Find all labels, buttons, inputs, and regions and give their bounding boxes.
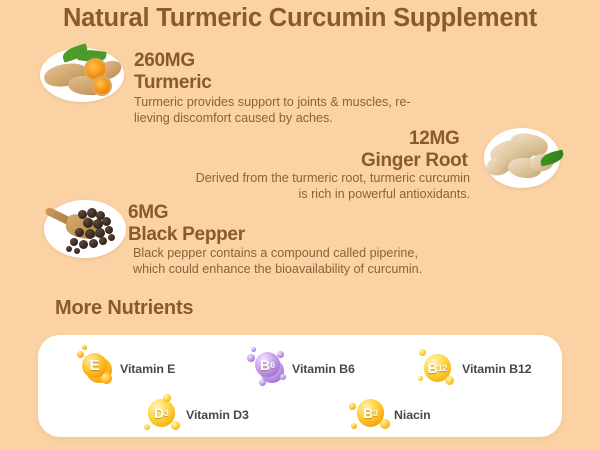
page-title: Natural Turmeric Curcumin Supplement [0,4,600,33]
niacin-badge-sup: 3 [373,408,378,418]
vitamin-d3-bubble-icon: D3 [140,397,182,433]
nutrient-item-vitamin-b6[interactable]: B6 Vitamin B6 [246,351,355,387]
niacin-badge: B [363,405,373,421]
vitamin-b6-badge-sub: 6 [270,360,275,370]
turmeric-amount: 260MG [134,51,195,70]
ginger-root-amount: 12MG [409,129,460,148]
vitamin-d3-badge-sub: 3 [164,408,169,418]
vitamin-b6-label: Vitamin B6 [292,362,355,376]
vitamin-e-label: Vitamin E [120,362,175,376]
nutrient-item-vitamin-d3[interactable]: D3 Vitamin D3 [140,397,249,433]
black-pepper-amount: 6MG [128,203,168,222]
vitamin-e-badge: E [89,357,99,374]
vitamin-b12-label: Vitamin B12 [462,362,532,376]
vitamin-b6-bubble-icon: B6 [246,351,288,387]
vitamin-b12-bubble-icon: B12 [416,351,458,387]
nutrient-item-vitamin-e[interactable]: E Vitamin E [74,351,175,387]
niacin-bubble-icon: B3 [348,397,390,433]
more-nutrients-heading: More Nutrients [55,297,193,320]
ginger-root-name: Ginger Root [361,151,467,170]
ginger-root-description: Derived from the turmeric root, turmeric… [150,171,470,202]
vitamin-b12-badge: B [428,360,438,376]
turmeric-name: Turmeric [134,73,212,92]
infographic-root: Natural Turmeric Curcumin Supplement 260… [0,0,600,450]
black-pepper-description: Black pepper contains a compound called … [133,246,473,277]
nutrient-item-vitamin-b12[interactable]: B12 Vitamin B12 [416,351,532,387]
vitamin-d3-label: Vitamin D3 [186,408,249,422]
vitamin-e-bubble-icon: E [74,351,116,387]
turmeric-description: Turmeric provides support to joints & mu… [134,95,444,126]
vitamin-d3-badge: D [154,405,164,421]
vitamin-b6-badge: B [260,357,270,373]
vitamin-b12-badge-sub: 12 [438,363,448,373]
more-nutrients-card: E Vitamin E B6 Vitamin B6 [38,335,562,437]
ginger-root-photo [484,128,560,188]
black-pepper-scoop-photo [44,200,126,258]
niacin-label: Niacin [394,408,431,422]
turmeric-root-photo [40,48,124,102]
black-pepper-name: Black Pepper [128,225,245,244]
nutrient-item-niacin[interactable]: B3 Niacin [348,397,431,433]
